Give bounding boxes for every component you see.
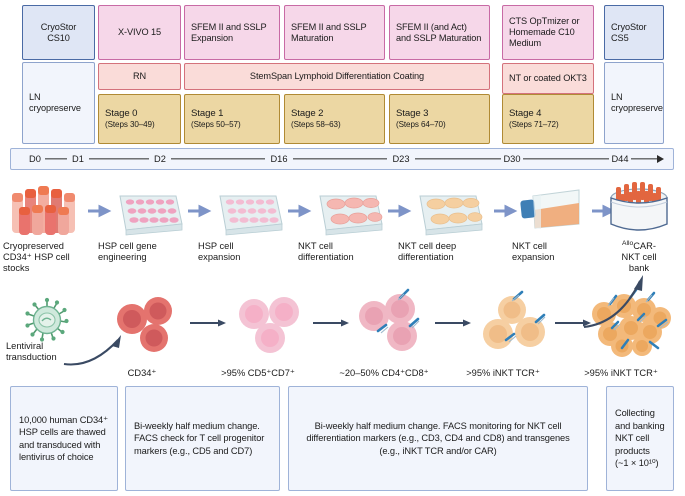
process-label-6: AlloCAR- NKT cell bank [603,241,675,274]
note-text: 10,000 human CD34⁺ HSP cells are thawed … [19,414,109,464]
cryovial-rack-icon [8,183,86,238]
process-label-5: NKT cell expansion [512,241,592,263]
note-box-thaw-transduce: 10,000 human CD34⁺ HSP cells are thawed … [10,386,118,491]
bank-curved-arrow [582,275,654,331]
lentiviral-label-line: Lentiviral [6,341,43,351]
cd4-cd8-cell-cluster-icon [356,294,428,354]
coating-box-rn: RN [98,63,181,90]
coating-box-nt-okt3: NT or coated OKT3 [502,63,594,94]
cryopreserve-left-label: LN cryopreserve [29,92,88,114]
stage-box-4: Stage 4 (Steps 71–72) [502,94,594,144]
note-box-collect-bank: Collecting and banking NKT cell products… [606,386,674,491]
process-label-line: expansion [198,252,240,262]
stage-text: Stage 4 (Steps 71–72) [509,108,559,130]
coating-box-label: NT or coated OKT3 [509,73,587,84]
process-label-line: NKT cell [622,252,657,262]
cd5-cd7-cell-cluster-icon [237,296,307,354]
timeline-arrowhead [657,155,664,163]
cryopreserve-box-right: LN cryopreserve [604,62,664,144]
process-label-line: differentiation [298,252,354,262]
media-box-label: SFEM II and SSLP Expansion [191,22,273,44]
timeline-tick-d30: D30 [501,154,522,164]
media-box-label: CryoStor CS10 [29,22,88,44]
stage-title: Stage 2 [291,108,341,119]
stage-text: Stage 2 (Steps 58–63) [291,108,341,130]
note-box-nkt-facs-monitoring: Bi-weekly half medium change. FACS monit… [288,386,588,491]
cell-arrow-1 [190,318,228,328]
process-label-line: HSP cell [198,241,233,251]
media-box-label: X-VIVO 15 [118,27,161,38]
process-arrow-4 [388,206,410,215]
media-box-sfem-sslp-expansion: SFEM II and SSLP Expansion [184,5,280,60]
media-box-label: CTS OpTmizer or Homemade C10 Medium [509,16,587,49]
process-label-0: Cryopreserved CD34⁺ HSP cell stocks [3,241,85,274]
coating-box-stemspan-lymphoid: StemSpan Lymphoid Differentiation Coatin… [184,63,490,90]
process-label-line: HSP cell gene [98,241,157,251]
coating-box-label: StemSpan Lymphoid Differentiation Coatin… [250,71,424,82]
process-arrow-2 [188,206,210,215]
media-box-sfem-act-sslp-maturation: SFEM II (and Act) and SSLP Maturation [389,5,490,60]
note-text: Bi-weekly half medium change. FACS monit… [297,420,579,457]
media-box-x-vivo-15: X-VIVO 15 [98,5,181,60]
process-label-2: HSP cell expansion [198,241,284,263]
cell-marker-cd34: CD34⁺ [128,368,157,379]
media-box-cryostor-cs10: CryoStor CS10 [22,5,95,60]
process-arrow-3 [288,206,310,215]
stage-title: Stage 1 [191,108,241,119]
timeline-tick-d23: D23 [390,154,411,164]
process-label-line: NKT cell [298,241,333,251]
process-label-line: engineering [98,252,147,262]
process-label-line: differentiation [398,252,454,262]
timeline-segment [415,158,501,159]
6-well-plate-icon [312,190,384,236]
process-label-line: CD34⁺ HSP cell [3,252,70,262]
6-well-plate-icon [412,190,484,236]
stage-steps: (Steps 58–63) [291,120,341,130]
cryopreserve-box-left: LN cryopreserve [22,62,95,144]
process-label-line: Cryopreserved [3,241,64,251]
process-label-line: NKT cell [512,241,547,251]
process-label-line: expansion [512,252,554,262]
stage-steps: (Steps 50–57) [191,120,241,130]
media-box-cts-optmizer-c10: CTS OpTmizer or Homemade C10 Medium [502,5,594,60]
coating-box-label: RN [133,71,146,82]
timeline-segment [293,158,387,159]
stage-title: Stage 4 [509,108,559,119]
stage-text: Stage 0 (Steps 30–49) [105,108,155,130]
timeline-segment [171,158,265,159]
cd34-cell-cluster-icon [114,297,182,353]
cell-arrow-2 [313,318,351,328]
allo-superscript: Allo [622,240,633,247]
stage-text: Stage 1 (Steps 50–57) [191,108,241,130]
stage-title: Stage 3 [396,108,446,119]
process-label-4: NKT cell deep differentiation [398,241,492,263]
stage-text: Stage 3 (Steps 64–70) [396,108,446,130]
stage-steps: (Steps 64–70) [396,120,446,130]
stage-steps: (Steps 30–49) [105,120,155,130]
timeline-tick-d0: D0 [27,154,43,164]
media-box-cryostor-cs5: CryoStor CS5 [604,5,664,60]
process-label-line: NKT cell deep [398,241,456,251]
cell-marker-inkt-tcr-1: >95% iNKT TCR⁺ [466,368,540,379]
process-label-line: stocks [3,263,29,273]
timeline-band: D0 D1 D2 D16 D23 D30 D44 [10,148,674,170]
process-label-1: HSP cell gene engineering [98,241,184,263]
cell-marker-cd5-cd7: >95% CD5⁺CD7⁺ [221,368,295,379]
process-label-line: CAR- [633,241,656,251]
stage-box-1: Stage 1 (Steps 50–57) [184,94,280,144]
timeline-segment [523,158,609,159]
process-label-3: NKT cell differentiation [298,241,388,263]
note-box-progenitor-facs: Bi-weekly half medium change. FACS check… [125,386,280,491]
media-box-label: SFEM II and SSLP Maturation [291,22,378,44]
timeline-segment [89,158,149,159]
process-arrow-1 [88,206,110,215]
cell-marker-cd4-cd8: ~20–50% CD4⁺CD8⁺ [339,368,428,379]
media-box-label: SFEM II (and Act) and SSLP Maturation [396,22,483,44]
stage-title: Stage 0 [105,108,155,119]
stage-box-3: Stage 3 (Steps 64–70) [389,94,490,144]
cell-arrow-3 [435,318,473,328]
timeline-segment [45,158,67,159]
figure-canvas: CryoStor CS10 LN cryopreserve X-VIVO 15 … [0,0,685,496]
cryopreserve-right-label: LN cryopreserve [611,92,663,114]
lentiviral-label-line: transduction [6,352,57,362]
24-well-plate-icon [112,190,184,236]
timeline-tick-d1: D1 [70,154,86,164]
process-label-line: bank [629,263,649,273]
cryo-bank-canister-icon [608,182,670,240]
culture-flask-icon [513,188,585,236]
timeline-tick-d16: D16 [268,154,289,164]
timeline-tick-d2: D2 [152,154,168,164]
media-box-label: CryoStor CS5 [611,22,657,44]
note-text: Bi-weekly half medium change. FACS check… [134,420,271,457]
media-box-sfem-sslp-maturation: SFEM II and SSLP Maturation [284,5,385,60]
cell-marker-inkt-tcr-2: >95% iNKT TCR⁺ [584,368,658,379]
stage-steps: (Steps 71–72) [509,120,559,130]
note-text: Collecting and banking NKT cell products… [615,407,665,469]
timeline-tick-d44: D44 [609,154,630,164]
stage-box-2: Stage 2 (Steps 58–63) [284,94,385,144]
stage-box-0: Stage 0 (Steps 30–49) [98,94,181,144]
24-well-plate-icon [212,190,284,236]
inkt-tcr-cell-cluster-icon [478,294,552,354]
